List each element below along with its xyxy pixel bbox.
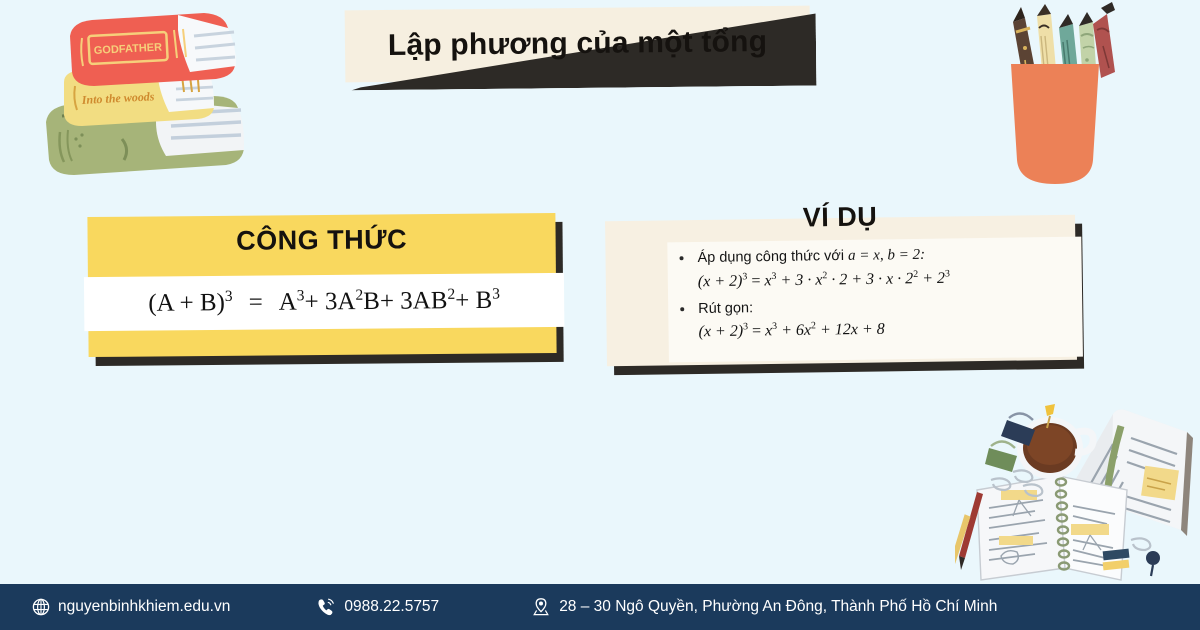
formula-plus3: + B: [455, 287, 492, 314]
desk-flatlay-illustration: [955, 398, 1195, 584]
page-title-banner: Lập phương của một tổng: [345, 6, 811, 83]
footer-address[interactable]: 28 – 30 Ngô Quyền, Phường An Đông, Thành…: [531, 597, 997, 617]
example-item-1-lead-text: Áp dụng công thức với: [697, 248, 848, 266]
bullet-icon: [680, 256, 684, 260]
formula-plus1: + 3A: [304, 288, 355, 315]
example-item-1-equation: (x + 2)3 = x3 + 3 · x2 · 2 + 3 · x · 22 …: [698, 266, 1082, 291]
highlight-3: [1071, 524, 1109, 535]
ex1-equals: =: [747, 272, 764, 289]
example-item-1-lead-math: a = x, b = 2:: [848, 247, 925, 264]
footer-address-text: 28 – 30 Ngô Quyền, Phường An Đông, Thành…: [559, 598, 997, 616]
formula-lhs-exp: 3: [225, 288, 233, 305]
formula-card: CÔNG THỨC (A + B)3=A3+ 3A2B+ 3AB2+ B3: [87, 213, 556, 357]
binder-clip-green: [985, 441, 1017, 472]
pencil-cup-illustration: [975, 2, 1125, 192]
example-content-panel: Áp dụng công thức với a = x, b = 2: (x +…: [667, 237, 1083, 363]
book-red: GODFATHER: [70, 13, 236, 86]
example-item-2-lead-text: Rút gọn:: [698, 300, 753, 317]
formula-equation: (A + B)3=A3+ 3A2B+ 3AB2+ B3: [148, 286, 500, 318]
poster-canvas: Into the woods GODFATHER Lập phương của …: [0, 0, 1200, 630]
book-stack-illustration: Into the woods GODFATHER: [38, 4, 268, 184]
push-pin-navy: [1146, 551, 1160, 576]
cup: [1011, 64, 1099, 184]
example-item-2-lead: Rút gọn:: [698, 294, 1082, 320]
ex1-s4: + 2: [918, 269, 945, 286]
formula-equals: =: [249, 289, 263, 316]
footer-website-text: nguyenbinhkhiem.edu.vn: [58, 598, 230, 616]
formula-t1-base: A: [279, 289, 297, 316]
ex1-s2: + 3 · x: [776, 271, 822, 289]
spiral-notebook: [977, 476, 1129, 580]
ex1-s4-exp: 3: [945, 268, 950, 279]
example-card: Áp dụng công thức với a = x, b = 2: (x +…: [605, 215, 1077, 367]
example-item-2-equation: (x + 2)3 = x3 + 6x2 + 12x + 8: [698, 317, 1082, 342]
formula-equation-strip: (A + B)3=A3+ 3A2B+ 3AB2+ B3: [84, 273, 564, 331]
footer-phone-text: 0988.22.5757: [344, 598, 439, 616]
phone-icon: [316, 597, 336, 617]
highlight-2: [999, 536, 1033, 545]
globe-icon: [32, 598, 50, 616]
bullet-icon: [680, 307, 684, 311]
ex1-lhs-base: (x + 2): [698, 272, 743, 290]
formula-plus2: + 3AB: [380, 288, 448, 316]
example-card-heading: VÍ DỤ: [605, 199, 1075, 237]
formula-card-heading: CÔNG THỨC: [87, 223, 555, 258]
formula-t2-exp: 2: [355, 287, 363, 304]
sticky-note: [1141, 466, 1179, 500]
page-title: Lập phương của một tổng: [345, 6, 811, 83]
ex2-equals: =: [748, 323, 765, 340]
formula-lhs-base: (A + B): [148, 290, 225, 318]
location-pin-icon: [531, 597, 551, 617]
example-item-1: Áp dụng công thức với a = x, b = 2: (x +…: [667, 243, 1082, 292]
footer-bar: nguyenbinhkhiem.edu.vn 0988.22.5757 28 –…: [0, 584, 1200, 630]
formula-t2-tail: B: [363, 288, 380, 315]
example-item-1-lead: Áp dụng công thức với a = x, b = 2:: [697, 243, 1081, 269]
example-item-2: Rút gọn: (x + 2)3 = x3 + 6x2 + 12x + 8: [668, 294, 1083, 343]
ex1-s3: · 2 + 3 · x · 2: [827, 270, 913, 288]
formula-t4-exp: 3: [492, 286, 500, 303]
ex2-s2: + 6x: [777, 322, 811, 339]
footer-website[interactable]: nguyenbinhkhiem.edu.vn: [32, 598, 230, 616]
ex2-lhs-base: (x + 2): [698, 323, 743, 341]
footer-phone[interactable]: 0988.22.5757: [316, 597, 439, 617]
ex2-s3: + 12x + 8: [816, 321, 885, 339]
